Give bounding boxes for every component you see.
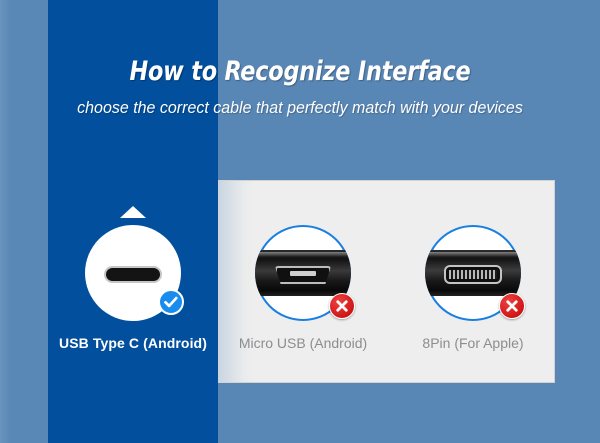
card-8pin[interactable]: 8Pin (For Apple): [388, 180, 558, 383]
connector-port-opening: [444, 265, 502, 284]
connector-port-tooth: [290, 271, 316, 276]
connector-port-opening: [104, 266, 162, 283]
infographic-root: How to Recognize Interface choose the co…: [0, 0, 600, 443]
8pin-circle: [425, 225, 521, 321]
page-title: How to Recognize Interface: [24, 0, 576, 87]
card-label-8pin: 8Pin (For Apple): [388, 335, 558, 351]
x-badge-icon: [499, 293, 525, 319]
card-usb-type-c[interactable]: USB Type C (Android): [48, 180, 218, 383]
up-triangle-pointer-icon: [120, 206, 146, 218]
check-badge-icon: [158, 289, 184, 315]
card-label-usb-type-c: USB Type C (Android): [48, 335, 218, 351]
connector-port-opening: [275, 266, 331, 284]
card-label-micro-usb: Micro USB (Android): [218, 335, 388, 351]
connector-pin-teeth: [449, 270, 497, 279]
page-subtitle: choose the correct cable that perfectly …: [9, 87, 591, 118]
connector-highlight: [85, 253, 181, 258]
micro-usb-circle: [255, 225, 351, 321]
connector-card-list: USB Type C (Android): [0, 180, 600, 383]
connector-highlight: [425, 252, 521, 257]
header: How to Recognize Interface choose the co…: [0, 0, 600, 118]
x-badge-icon: [329, 293, 355, 319]
card-micro-usb[interactable]: Micro USB (Android): [218, 180, 388, 383]
connector-highlight: [255, 252, 351, 257]
usb-type-c-circle: [85, 225, 181, 321]
